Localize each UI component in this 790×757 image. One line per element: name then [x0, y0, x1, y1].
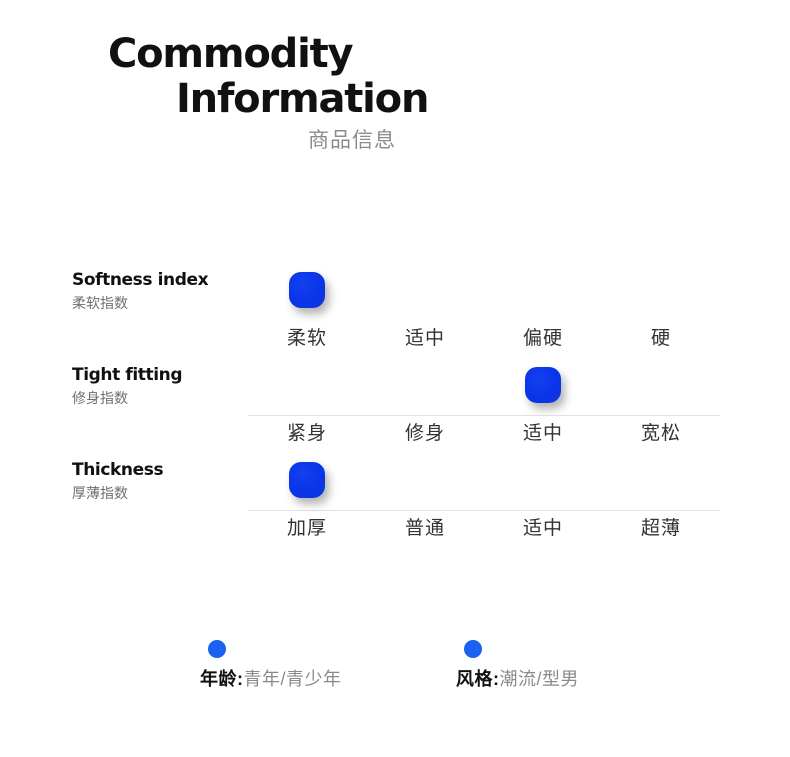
scale-marker-softness[interactable]: [289, 272, 325, 308]
legend-age-text: 年龄:青年/青少年: [200, 667, 342, 691]
spec-row-label: Thickness 厚薄指数: [72, 460, 262, 503]
legend-age-key: 年龄:: [200, 669, 244, 689]
scale-option[interactable]: 紧身: [248, 421, 366, 447]
scale-option[interactable]: 硬: [602, 326, 720, 352]
spec-label-en: Thickness: [72, 460, 262, 481]
spec-row-label: Tight fitting 修身指数: [72, 365, 262, 408]
page-subtitle-cn: 商品信息: [308, 128, 790, 154]
scale-option[interactable]: 宽松: [602, 421, 720, 447]
scale-option[interactable]: 修身: [366, 421, 484, 447]
scale-option-list: 紧身 修身 适中 宽松: [248, 421, 720, 447]
blue-dot-icon: [464, 640, 482, 658]
legend-style-value: 潮流/型男: [500, 669, 580, 689]
scale-option[interactable]: 适中: [484, 421, 602, 447]
legend-style-key: 风格:: [456, 669, 500, 689]
spec-label-en: Softness index: [72, 270, 262, 291]
page-title-line-1: Commodity: [108, 32, 790, 77]
spec-label-cn: 柔软指数: [72, 293, 262, 313]
scale-marker-tight-fitting[interactable]: [525, 367, 561, 403]
spec-row-softness: Softness index 柔软指数 柔软 适中 偏硬 硬: [0, 258, 790, 353]
scale-option[interactable]: 柔软: [248, 326, 366, 352]
scale-option[interactable]: 适中: [366, 326, 484, 352]
legend-item-style: 风格:潮流/型男: [456, 640, 579, 691]
legend-age-value: 青年/青少年: [244, 669, 342, 689]
scale-option[interactable]: 超薄: [602, 516, 720, 542]
scale-marker-thickness[interactable]: [289, 462, 325, 498]
scale-option[interactable]: 普通: [366, 516, 484, 542]
scale-option[interactable]: 加厚: [248, 516, 366, 542]
blue-dot-icon: [208, 640, 226, 658]
scale-option-list: 柔软 适中 偏硬 硬: [248, 326, 720, 352]
spec-label-cn: 厚薄指数: [72, 483, 262, 503]
spec-row-thickness: Thickness 厚薄指数 加厚 普通 适中 超薄: [0, 448, 790, 543]
scale-option[interactable]: 适中: [484, 516, 602, 542]
spec-table: Softness index 柔软指数 柔软 适中 偏硬 硬 Tight fit…: [0, 258, 790, 543]
spec-label-cn: 修身指数: [72, 388, 262, 408]
legend-style-text: 风格:潮流/型男: [456, 667, 579, 691]
spec-scale: 柔软 适中 偏硬 硬: [248, 258, 720, 353]
spec-scale: 加厚 普通 适中 超薄: [248, 448, 720, 543]
spec-scale: 紧身 修身 适中 宽松: [248, 353, 720, 448]
spec-row-tight-fitting: Tight fitting 修身指数 紧身 修身 适中 宽松: [0, 353, 790, 448]
spec-row-label: Softness index 柔软指数: [72, 270, 262, 313]
legend-item-age: 年龄:青年/青少年: [200, 640, 342, 691]
scale-divider-line: [248, 510, 720, 511]
spec-label-en: Tight fitting: [72, 365, 262, 386]
page-title-block: Commodity Information 商品信息: [0, 32, 790, 154]
scale-option[interactable]: 偏硬: [484, 326, 602, 352]
scale-option-list: 加厚 普通 适中 超薄: [248, 516, 720, 542]
page-title-line-2: Information: [176, 77, 790, 122]
scale-divider-line: [248, 415, 720, 416]
